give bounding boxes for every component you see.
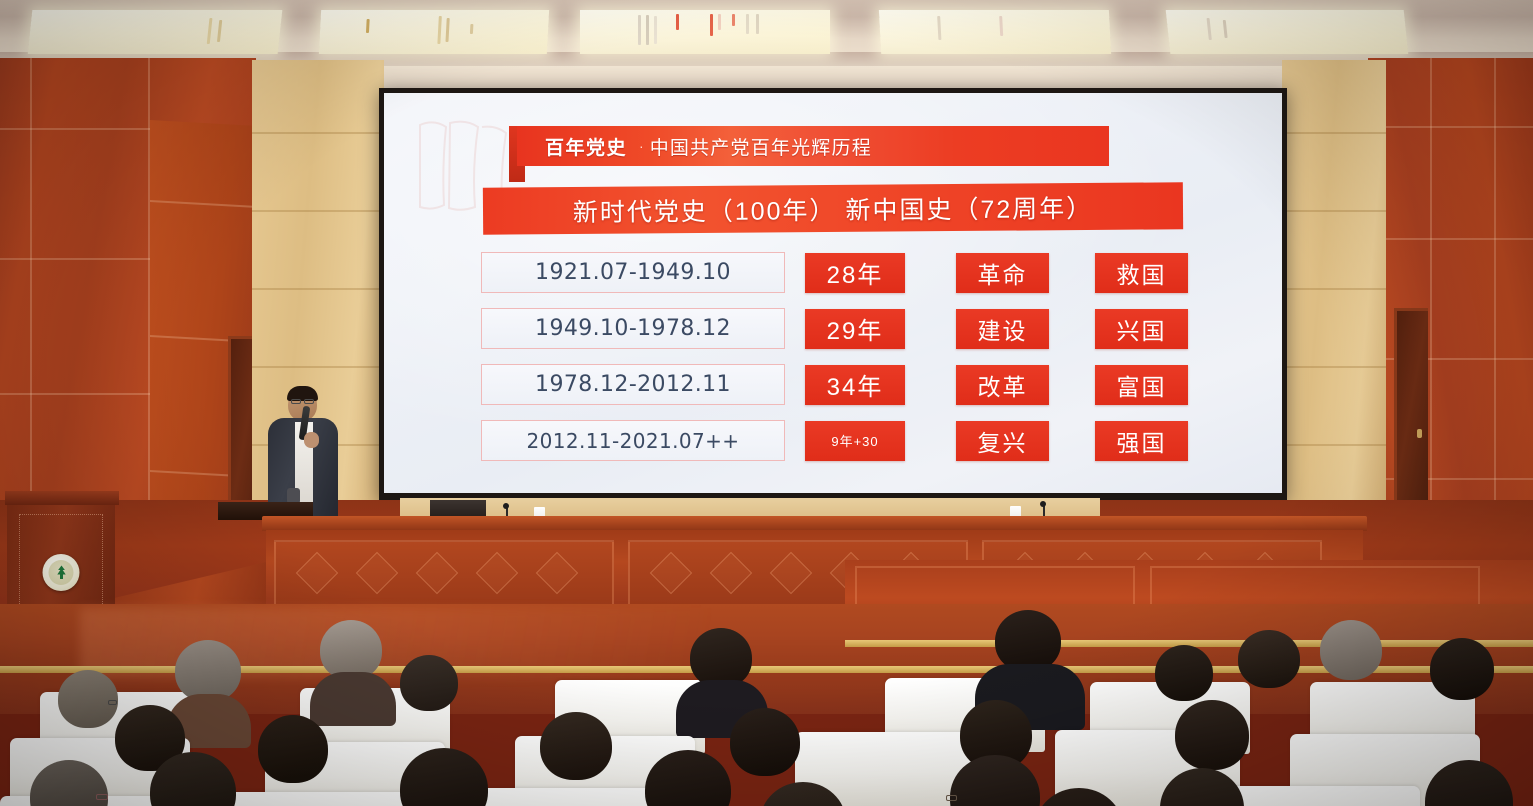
ceiling-light-panel: [879, 10, 1111, 54]
tile-seam: [1368, 478, 1533, 480]
presentation-slide: 百年党史 · 中国共产党百年光辉历程 新时代党史（100年） 新中国史（72周年…: [384, 93, 1282, 493]
panel-seam: [1282, 444, 1386, 446]
light-fixture-mark: [470, 24, 474, 34]
ribbon-subtitle-text: 中国共产党百年光辉历程: [650, 133, 872, 160]
light-fixture-mark: [654, 16, 657, 44]
panel-diamond-motif: [476, 552, 518, 594]
tile-seam: [0, 258, 160, 260]
theme-chip: 建设: [956, 309, 1049, 349]
tile-seam: [150, 200, 260, 208]
light-fixture-mark: [710, 14, 713, 36]
ceiling-light-panel: [1166, 10, 1409, 54]
panel-seam: [252, 288, 384, 290]
duration-chip: 28年: [805, 253, 905, 293]
slide-headline-bar: 新时代党史（100年） 新中国史（72周年）: [483, 182, 1183, 234]
institution-emblem-icon: [43, 554, 80, 591]
light-fixture-mark: [366, 19, 370, 33]
light-fixture-mark: [646, 15, 649, 45]
podium-top: [5, 491, 119, 505]
eyeglass-temple-icon: [96, 794, 108, 800]
audience-head: [58, 670, 118, 728]
table-row: 1949.10-1978.12 29年 建设 兴国: [481, 307, 1191, 350]
period-cell: 1949.10-1978.12: [481, 308, 785, 349]
panel-seam: [252, 210, 384, 212]
audience-head: [1175, 700, 1249, 770]
light-fixture-mark: [437, 16, 441, 44]
audience-head: [995, 610, 1061, 672]
panel-diamond-motif: [416, 552, 458, 594]
ceiling-light-panel: [28, 10, 283, 54]
panel-seam: [1282, 288, 1386, 290]
eyeglass-temple-icon: [108, 700, 117, 705]
light-fixture-mark: [217, 20, 222, 42]
ribbon-tag-text: 百年党史: [545, 133, 627, 160]
audience-head: [1320, 620, 1382, 680]
projection-screen: 百年党史 · 中国共产党百年光辉历程 新时代党史（100年） 新中国史（72周年…: [379, 88, 1287, 500]
audience-head: [1238, 630, 1300, 688]
slide-title-ribbon: 百年党史 · 中国共产党百年光辉历程: [509, 126, 1109, 172]
light-fixture-mark: [746, 14, 749, 34]
light-fixture-mark: [937, 16, 941, 40]
light-fixture-mark: [676, 14, 679, 30]
light-fixture-mark: [1223, 20, 1228, 38]
duration-chip: 34年: [805, 365, 905, 405]
theme-chip: 革命: [956, 253, 1049, 293]
tile-seam: [0, 128, 160, 130]
microphone-head-icon: [503, 503, 509, 509]
goal-chip: 兴国: [1095, 309, 1188, 349]
conference-hall-photo: 百年党史 · 中国共产党百年光辉历程 新时代党史（100年） 新中国史（72周年…: [0, 0, 1533, 806]
duration-chip: 29年: [805, 309, 905, 349]
door-handle-icon[interactable]: [1417, 429, 1422, 438]
ribbon-separator: ·: [639, 138, 644, 154]
panel-diamond-motif: [536, 552, 578, 594]
head-table-top: [262, 516, 1367, 531]
emblem-tree-icon: [52, 564, 70, 582]
period-cell: 1978.12-2012.11: [481, 364, 785, 405]
ceiling-light-panel: [580, 10, 830, 54]
tile-seam: [0, 393, 160, 395]
light-fixture-mark: [999, 16, 1003, 36]
light-fixture-mark: [756, 14, 759, 34]
light-fixture-mark: [445, 18, 449, 42]
audience-torso: [310, 672, 396, 726]
panel-diamond-motif: [710, 552, 752, 594]
acoustic-panel-right: [1282, 60, 1386, 508]
theme-chip: 复兴: [956, 421, 1049, 461]
ceiling-light-panel: [319, 10, 549, 54]
light-fixture-mark: [638, 15, 641, 45]
tile-seam: [1368, 358, 1533, 360]
period-cell: 1921.07-1949.10: [481, 252, 785, 293]
history-periods-table: 1921.07-1949.10 28年 革命 救国 1949.10-1978.1…: [481, 251, 1191, 475]
duration-chip: 9年+30: [805, 421, 905, 461]
slide-headline-text: 新时代党史（100年） 新中国史（72周年）: [573, 188, 1094, 228]
audience-head: [175, 640, 241, 702]
panel-seam: [1282, 366, 1386, 368]
audience-head: [1430, 638, 1494, 700]
presenter-glasses-icon: [291, 399, 301, 404]
panel-seam: [1282, 132, 1386, 134]
audience-head: [540, 712, 612, 780]
table-row: 2012.11-2021.07++ 9年+30 复兴 强国: [481, 419, 1191, 462]
table-row: 1921.07-1949.10 28年 革命 救国: [481, 251, 1191, 294]
panel-diamond-motif: [296, 552, 338, 594]
audience-head: [730, 708, 800, 776]
audience-head: [690, 628, 752, 688]
panel-seam: [252, 132, 384, 134]
presenter-hand: [304, 432, 319, 448]
panel-diamond-motif: [650, 552, 692, 594]
theme-chip: 改革: [956, 365, 1049, 405]
ribbon-bar: 百年党史 · 中国共产党百年光辉历程: [517, 126, 1109, 166]
panel-diamond-motif: [356, 552, 398, 594]
panel-diamond-motif: [770, 552, 812, 594]
period-cell: 2012.11-2021.07++: [481, 420, 785, 461]
microphone-head-icon: [1040, 501, 1046, 507]
goal-chip: 富国: [1095, 365, 1188, 405]
audience-head: [320, 620, 382, 680]
tile-seam: [1368, 126, 1533, 128]
light-fixture-mark: [732, 14, 735, 26]
audience-area: [0, 600, 1533, 806]
light-fixture-mark: [1207, 18, 1212, 40]
presenter-glasses-icon: [304, 399, 314, 404]
tile-seam: [1368, 238, 1533, 240]
panel-seam: [252, 366, 384, 368]
light-fixture-mark: [718, 14, 721, 30]
goal-chip: 救国: [1095, 253, 1188, 293]
head-table-panel: [274, 540, 614, 606]
audience-head: [258, 715, 328, 783]
light-fixture-mark: [207, 18, 213, 44]
table-row: 1978.12-2012.11 34年 改革 富国: [481, 363, 1191, 406]
emblem-core: [49, 560, 74, 585]
goal-chip: 强国: [1095, 421, 1188, 461]
audience-head: [400, 655, 458, 711]
audience-head: [1155, 645, 1213, 701]
panel-seam: [1282, 210, 1386, 212]
eyeglass-temple-icon: [946, 795, 957, 801]
